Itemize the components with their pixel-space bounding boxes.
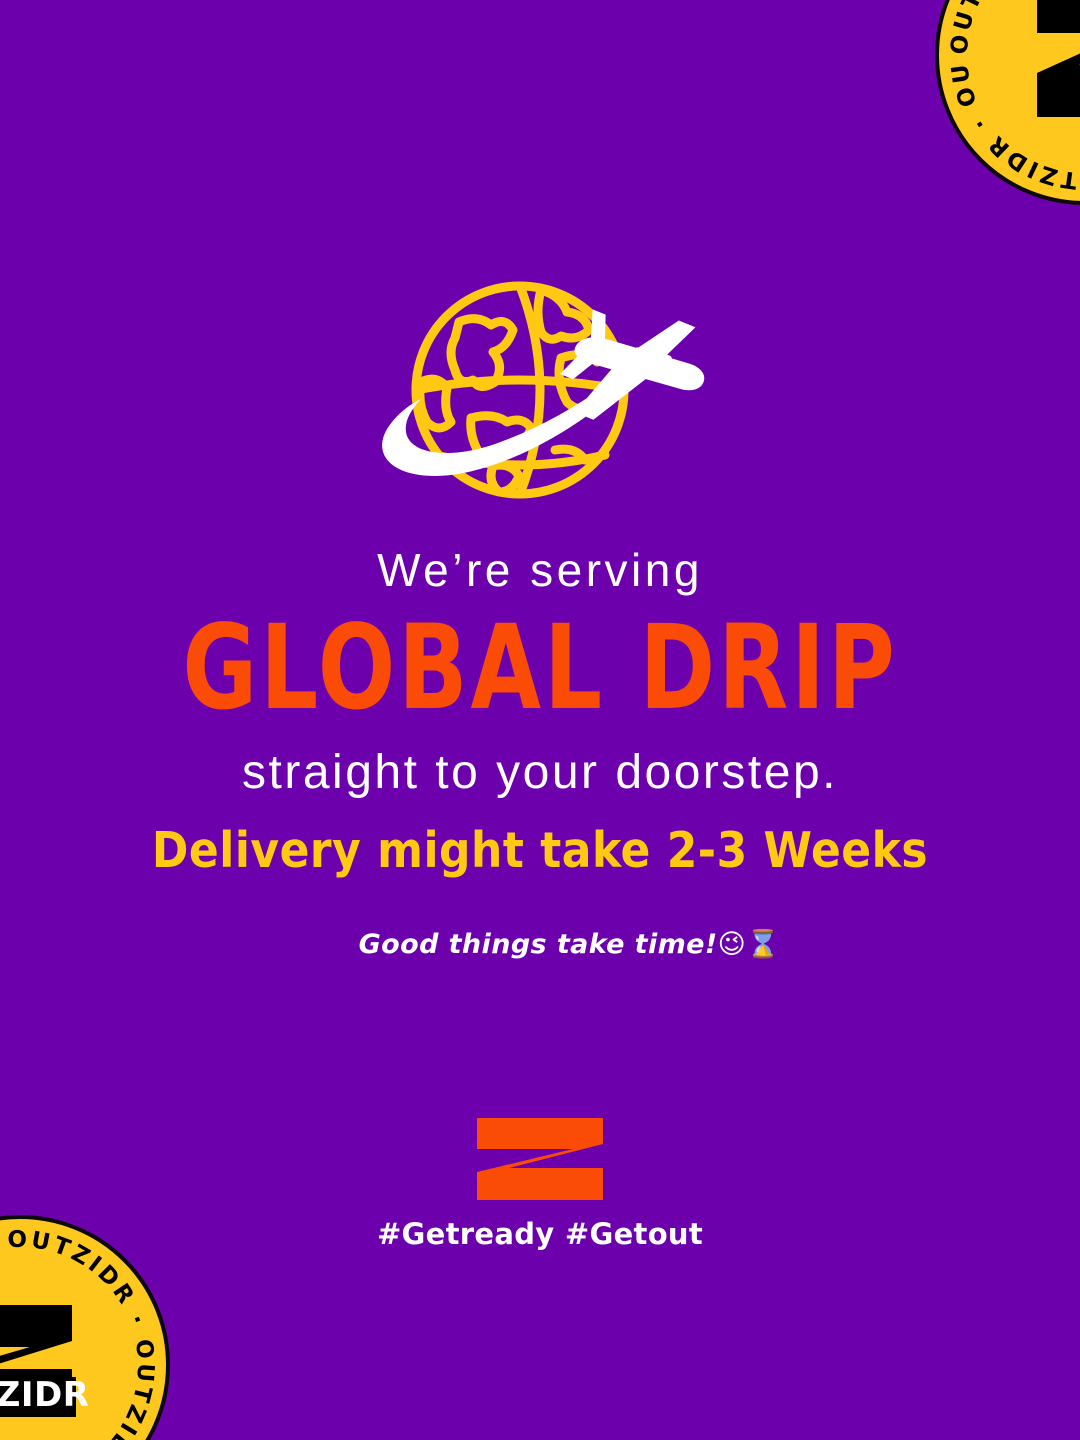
outzidr-circular-badge-bottom-left: OUTZIDR · OUTZIDR · OUTZIDR · OUTZIDR · …	[0, 1215, 170, 1440]
winking-face-emoji: 😉	[718, 929, 747, 960]
outzidr-circular-badge-top-right: OUTZIDR · OUTZIDR · OUTZIDR · OUTZIDR · …	[935, 0, 1080, 205]
delivery-subtext: Good things take time!	[359, 929, 718, 960]
headline-line-doorstep: straight to your doorstep.	[0, 746, 1080, 800]
headline-line-serving: We’re serving	[0, 545, 1080, 597]
headline-line-global-drip: GLOBAL DRIP	[27, 603, 1053, 734]
badge-wordmark-text: OUTZIDR	[0, 1375, 89, 1415]
headline-block: We’re serving GLOBAL DRIP straight to yo…	[0, 545, 1080, 800]
poster-canvas: We’re serving GLOBAL DRIP straight to yo…	[0, 0, 1080, 1440]
delivery-info-block: Delivery might take 2-3 Weeks Good thing…	[0, 822, 1080, 994]
delivery-time-headline: Delivery might take 2-3 Weeks	[0, 822, 1080, 881]
globe-with-airplane-icon	[355, 270, 715, 515]
outzidr-z-logo-icon	[477, 1118, 603, 1200]
delivery-subtext-row: Good things take time!😉⌛	[0, 897, 1080, 994]
hourglass-emoji: ⌛	[746, 929, 780, 960]
